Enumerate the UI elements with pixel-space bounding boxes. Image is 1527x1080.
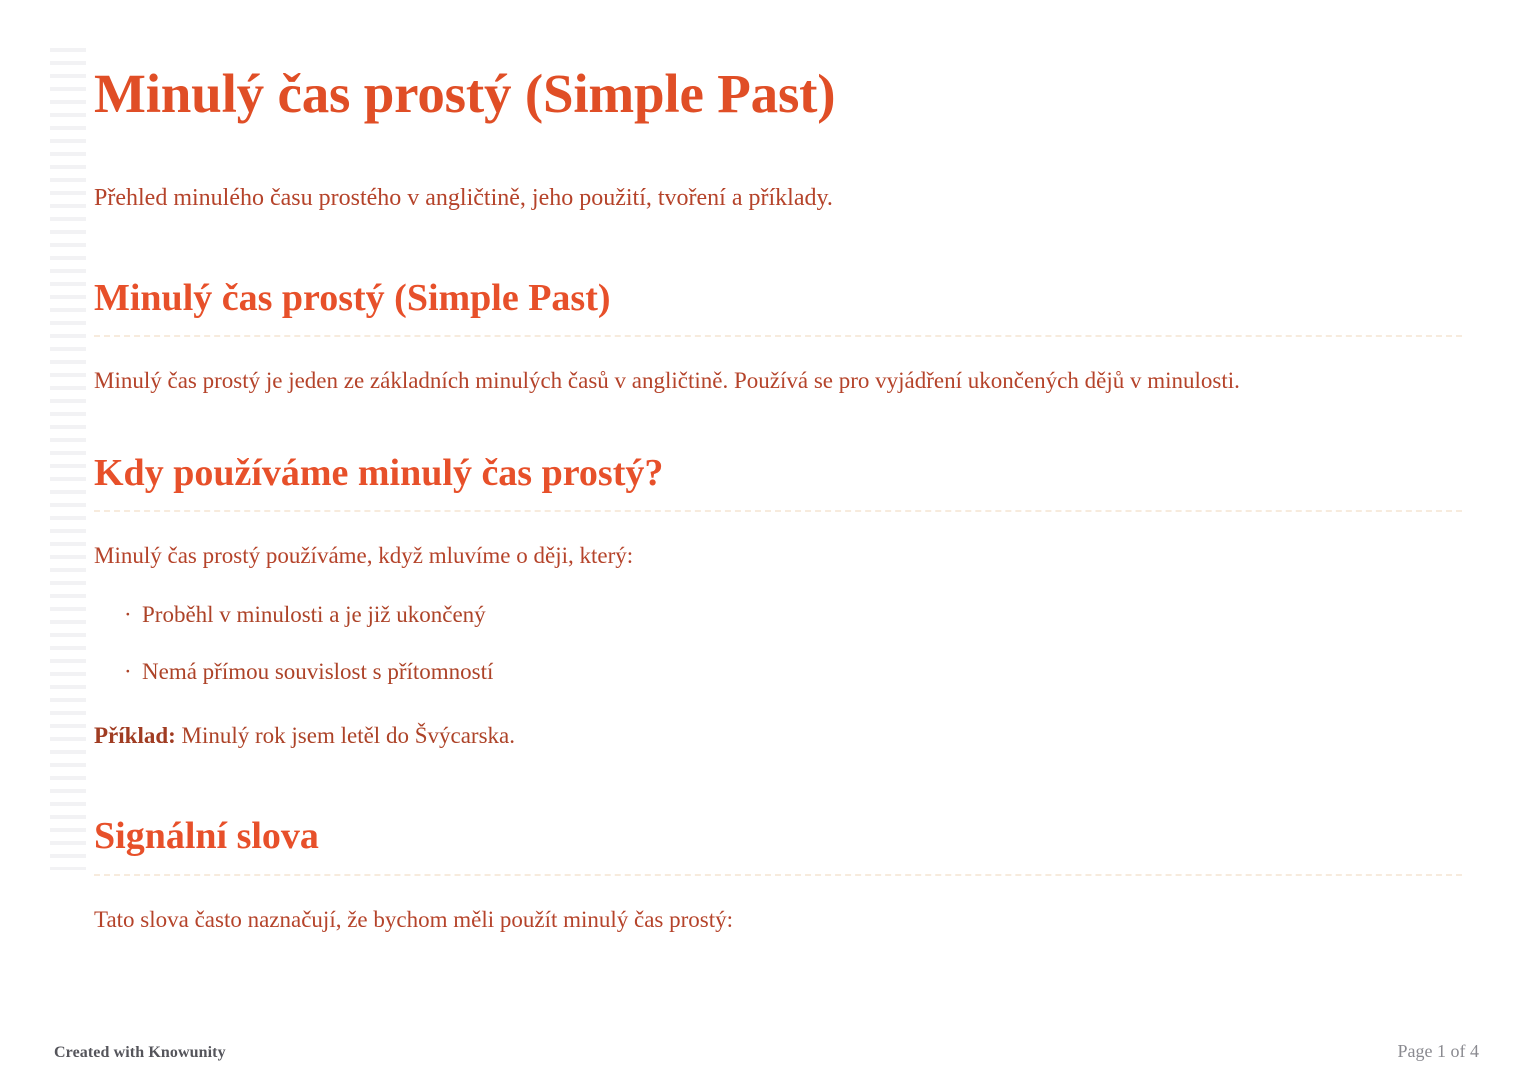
section-heading: Minulý čas prostý (Simple Past) (94, 276, 1462, 338)
section-paragraph: Minulý čas prostý je jeden ze základních… (94, 337, 1464, 399)
list-item: · Nemá přímou souvislost s přítomností (94, 631, 1464, 688)
document-subtitle: Přehled minulého času prostého v angličt… (94, 127, 1464, 216)
list-item-label: Nemá přímou souvislost s přítomností (124, 655, 493, 688)
example-line: Příklad: Minulý rok jsem letěl do Švýcar… (94, 689, 1464, 752)
section-paragraph: Minulý čas prostý používáme, když mluvím… (94, 512, 1464, 574)
example-text: Minulý rok jsem letěl do Švýcarska. (176, 723, 515, 748)
section-simple-past: Minulý čas prostý (Simple Past) Minulý č… (94, 216, 1464, 399)
footer-brand-label: Created with Knowunity (54, 1044, 226, 1062)
bullet-dot-icon: · (124, 598, 132, 631)
usage-bullet-list: · Proběhl v minulosti a je již ukončený … (94, 574, 1464, 689)
document-content: Minulý čas prostý (Simple Past) Přehled … (94, 0, 1464, 937)
section-paragraph: Tato slova často naznačují, že bychom mě… (94, 876, 1464, 938)
example-label: Příklad: (94, 723, 176, 748)
page-title: Minulý čas prostý (Simple Past) (94, 0, 1464, 127)
bullet-dot-icon: · (124, 655, 132, 688)
section-heading: Signální slova (94, 814, 1462, 876)
left-margin-texture (50, 48, 86, 870)
document-page: Minulý čas prostý (Simple Past) Přehled … (0, 0, 1527, 1080)
footer-page-number: Page 1 of 4 (1398, 1041, 1479, 1062)
list-item: · Proběhl v minulosti a je již ukončený (94, 574, 1464, 631)
section-signal-words: Signální slova Tato slova často naznačuj… (94, 752, 1464, 937)
section-when-to-use: Kdy používáme minulý čas prostý? Minulý … (94, 399, 1464, 752)
section-heading: Kdy používáme minulý čas prostý? (94, 451, 1462, 513)
list-item-label: Proběhl v minulosti a je již ukončený (124, 598, 486, 631)
